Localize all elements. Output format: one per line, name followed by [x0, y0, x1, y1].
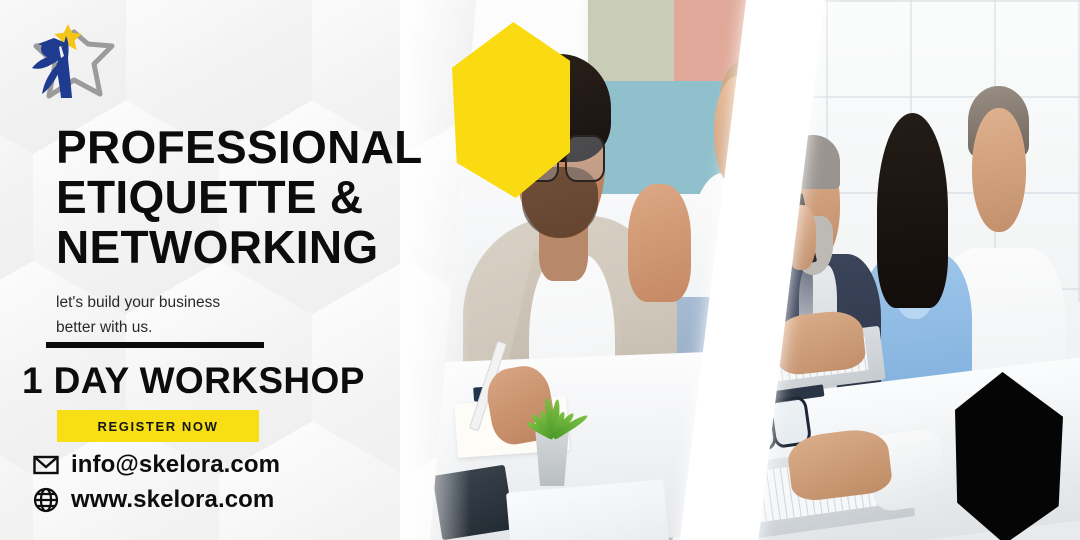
title-line-3: NETWORKING [56, 222, 476, 272]
content-column: PROFESSIONAL ETIQUETTE & NETWORKING let'… [0, 0, 470, 540]
workshop-label: 1 DAY WORKSHOP [22, 360, 365, 402]
tagline: let's build your business better with us… [56, 290, 296, 340]
title-line-1: PROFESSIONAL [56, 122, 476, 172]
contact-website-row[interactable]: www.skelora.com [33, 487, 280, 513]
tagline-line-1: let's build your business [56, 290, 296, 315]
skelora-logo [16, 14, 120, 108]
title-line-2: ETIQUETTE & [56, 172, 476, 222]
globe-icon [33, 487, 59, 513]
website-text: www.skelora.com [71, 487, 274, 513]
contact-email-row[interactable]: info@skelora.com [33, 452, 280, 478]
contact-info: info@skelora.com www.skelora.com [33, 452, 280, 522]
event-promo-banner: PROFESSIONAL ETIQUETTE & NETWORKING let'… [0, 0, 1080, 540]
email-text: info@skelora.com [71, 452, 280, 478]
tagline-line-2: better with us. [56, 315, 296, 340]
envelope-icon [33, 452, 59, 478]
page-title: PROFESSIONAL ETIQUETTE & NETWORKING [56, 122, 476, 272]
divider-rule [46, 342, 264, 348]
register-now-button[interactable]: REGISTER NOW [57, 410, 259, 442]
